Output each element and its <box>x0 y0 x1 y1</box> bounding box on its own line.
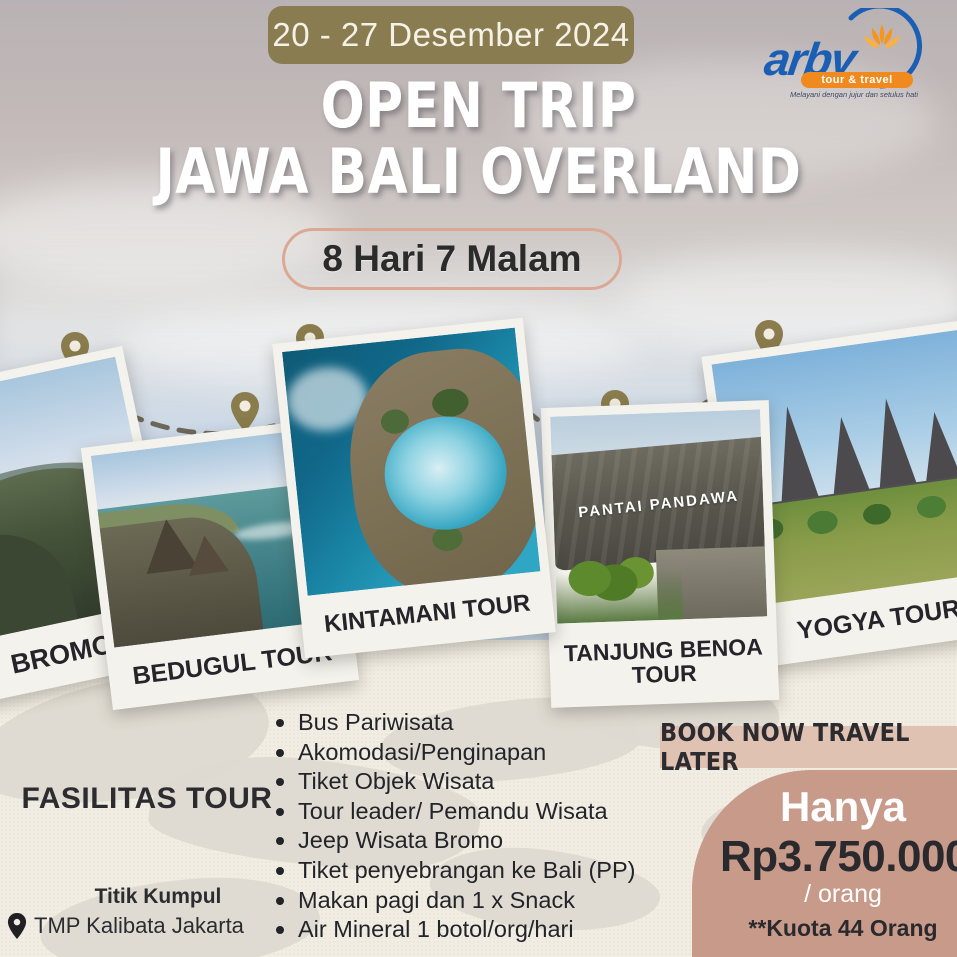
price-amount: Rp3.750.000 <box>720 834 957 880</box>
price-prefix: Hanya <box>720 786 957 828</box>
photo-tanjung-benoa: PANTAI PANDAWA <box>550 409 767 623</box>
destination-card-tanjung-benoa[interactable]: PANTAI PANDAWA TANJUNG BENOA TOUR <box>541 400 779 708</box>
facilities-heading: FASILITAS TOUR <box>18 782 276 816</box>
poster-canvas: 20 - 27 Desember 2024 OPEN TRIP JAWA BAL… <box>0 0 957 957</box>
date-badge: 20 - 27 Desember 2024 <box>268 6 634 64</box>
list-item: Jeep Wisata Bromo <box>272 826 672 856</box>
list-item: Makan pagi dan 1 x Snack <box>272 886 672 916</box>
destination-photo <box>282 328 540 596</box>
quota-note: **Kuota 44 Orang <box>720 915 957 942</box>
price-unit: / orang <box>720 882 957 907</box>
meeting-point-label: Titik Kumpul <box>20 885 296 909</box>
promo-banner: BOOK NOW TRAVEL LATER <box>660 726 957 768</box>
list-item: Akomodasi/Penginapan <box>272 738 672 768</box>
list-item: Tiket penyebrangan ke Bali (PP) <box>272 856 672 886</box>
facilities-list: Bus Pariwisata Akomodasi/Penginapan Tike… <box>272 708 672 945</box>
destination-caption: TANJUNG BENOA TOUR <box>557 616 770 707</box>
title-line-2: JAWA BALI OVERLAND <box>33 142 923 202</box>
destination-card-kintamani[interactable]: KINTAMANI TOUR <box>272 318 556 659</box>
brand-logo: arby tour & travel Melayani dengan jujur… <box>759 6 949 102</box>
list-item: Tour leader/ Pemandu Wisata <box>272 797 672 827</box>
list-item: Tiket Objek Wisata <box>272 767 672 797</box>
price-box: Hanya Rp3.750.000 / orang **Kuota 44 Ora… <box>692 770 957 957</box>
list-item: Air Mineral 1 botol/org/hari <box>272 915 672 945</box>
logo-tagline: Melayani dengan jujur dan setulus hati <box>761 90 947 99</box>
duration-badge: 8 Hari 7 Malam <box>282 228 622 290</box>
meeting-point-value: TMP Kalibata Jakarta <box>34 913 244 939</box>
logo-subtitle: tour & travel <box>801 72 913 88</box>
location-pin-icon <box>6 911 28 941</box>
destination-photo: PANTAI PANDAWA <box>550 409 767 623</box>
list-item: Bus Pariwisata <box>272 708 672 738</box>
photo-kintamani <box>282 328 540 596</box>
meeting-point: Titik Kumpul TMP Kalibata Jakarta <box>6 885 296 941</box>
lotus-icon <box>859 20 905 60</box>
